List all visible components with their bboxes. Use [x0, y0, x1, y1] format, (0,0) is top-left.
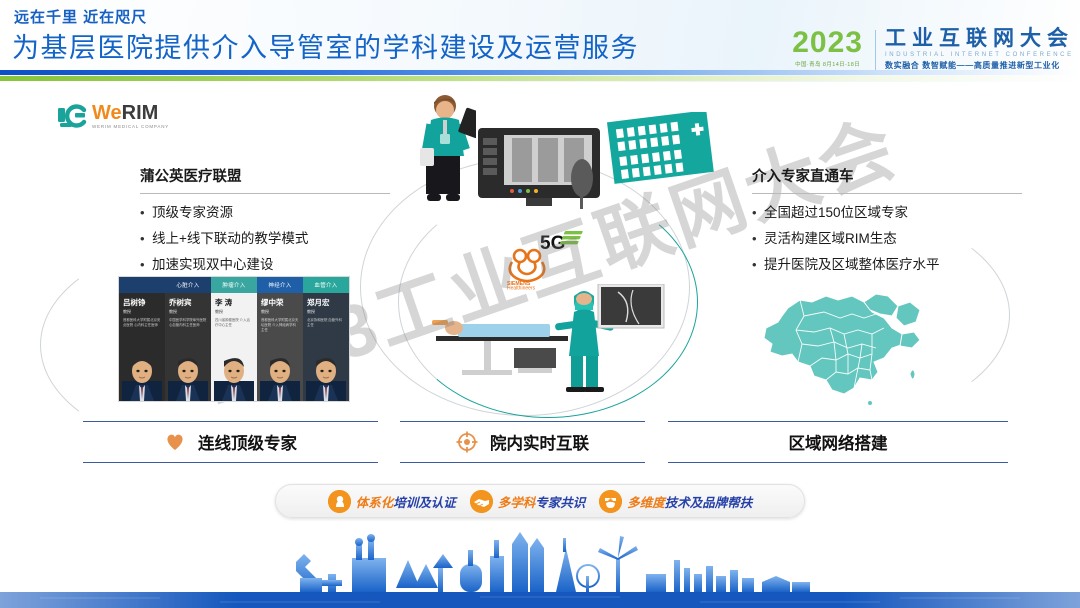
- expert-column-header: 肿瘤介入: [211, 277, 257, 293]
- banner-orange-1: 多学科: [498, 496, 536, 510]
- expert-role: 教授: [261, 309, 299, 314]
- conference-name-en: INDUSTRIAL INTERNET CONFERENCE: [885, 52, 1074, 58]
- expert-column-body: 缪中荣教授首都医科大学附属北京天坛医院 介入神经病学科主任: [257, 293, 303, 401]
- expert-column-header: [119, 277, 165, 293]
- expert-affiliation: 中国医学科学院阜外医院 心血管内科主任医师: [169, 318, 207, 328]
- expert-name: 缪中荣: [261, 298, 299, 307]
- bullet-dot-icon: •: [752, 256, 764, 273]
- capability-label-1: 院内实时互联: [490, 430, 589, 454]
- panel-bullets-left: • 顶级专家资源 • 线上+线下联动的教学模式 • 加速实现双中心建设: [140, 204, 390, 273]
- banner-blue-2: 技术及品牌帮扶: [665, 496, 753, 510]
- head-profile-icon: [328, 490, 351, 513]
- expert-column: 血管介入郑月宏教授北京协和医院 血管外科主任: [303, 277, 349, 401]
- bullet-dot-icon: •: [752, 230, 764, 247]
- expert-role: 教授: [307, 309, 345, 314]
- bullet-dot-icon: •: [752, 204, 764, 221]
- bullet-dot-icon: •: [140, 256, 152, 273]
- expert-column-body: 李 涛教授四川省肿瘤医院 介入治疗中心主任: [211, 293, 257, 401]
- bullet-text: 灵活构建区域RIM生态: [764, 230, 897, 247]
- banner-item-0[interactable]: 体系化培训及认证: [328, 490, 456, 513]
- capability-box-0[interactable]: 连线顶级专家: [83, 421, 378, 463]
- expert-role: 教授: [123, 309, 161, 314]
- expert-column-body: 乔树宾教授中国医学科学院阜外医院 心血管内科主任医师: [165, 293, 211, 401]
- banner-text-0: 体系化培训及认证: [356, 492, 456, 511]
- expert-column-header: 心脏介入: [165, 277, 211, 293]
- capability-label-0: 连线顶级专家: [198, 430, 297, 454]
- standing-doctor-illustration: [414, 92, 476, 214]
- expert-name: 郑月宏: [307, 298, 345, 307]
- capability-label-2: 区域网络搭建: [789, 430, 888, 454]
- werim-rim: RIM: [122, 102, 159, 124]
- expert-affiliation: 北京协和医院 血管外科主任: [307, 318, 345, 328]
- bullet-text: 全国超过150位区域专家: [764, 204, 908, 221]
- list-item: • 提升医院及区域整体医疗水平: [752, 256, 1022, 273]
- capability-box-2[interactable]: 区域网络搭建: [668, 421, 1008, 463]
- banner-blue-0: 培训及认证: [393, 496, 456, 510]
- conference-name-cn: 工业互联网大会: [885, 28, 1074, 50]
- conference-date: 中国·青岛 8月14日-18日: [792, 60, 863, 68]
- bullet-text: 顶级专家资源: [152, 204, 233, 221]
- service-banner: 体系化培训及认证 多学科专家共识 多维度技术及品牌: [275, 484, 805, 518]
- expert-column-body: 郑月宏教授北京协和医院 血管外科主任: [303, 293, 349, 401]
- expert-name: 李 涛: [215, 298, 253, 307]
- expert-portrait: [168, 345, 208, 401]
- expert-column-header: 血管介入: [303, 277, 349, 293]
- surgery-scene-illustration: [418, 284, 678, 410]
- target-icon: [456, 431, 478, 453]
- expert-column-header: 神经介入: [257, 277, 303, 293]
- expert-portrait: [260, 345, 300, 401]
- expert-role: 教授: [215, 309, 253, 314]
- banner-text-1: 多学科专家共识: [498, 492, 586, 511]
- conference-name-block: 工业互联网大会 INDUSTRIAL INTERNET CONFERENCE 数…: [885, 28, 1074, 71]
- werim-we: We: [92, 102, 122, 124]
- hainan-shape: [868, 401, 872, 405]
- expert-column: 吕树铮教授首都医科大学附属北京安贞医院 心内科主任医师: [119, 277, 165, 401]
- banner-item-2[interactable]: 多维度技术及品牌帮扶: [599, 490, 752, 513]
- nurse-icon: [599, 490, 622, 513]
- page-title: 为基层医院提供介入导管室的学科建设及运营服务: [12, 26, 639, 65]
- panel-rule-left: [140, 193, 390, 194]
- conference-divider: [875, 30, 876, 70]
- banner-item-1[interactable]: 多学科专家共识: [470, 490, 586, 513]
- expert-affiliation: 四川省肿瘤医院 介入治疗中心主任: [215, 318, 253, 328]
- slide-root: 远在千里 近在咫尺 为基层医院提供介入导管室的学科建设及运营服务 2023 中国…: [0, 0, 1080, 608]
- expert-column: 心脏介入乔树宾教授中国医学科学院阜外医院 心血管内科主任医师: [165, 277, 211, 401]
- industrial-skyline-illustration: [0, 516, 1080, 608]
- banner-text-2: 多维度技术及品牌帮扶: [627, 492, 752, 511]
- expert-affiliation: 首都医科大学附属北京天坛医院 介入神经病学科主任: [261, 318, 299, 333]
- expert-portrait: [214, 345, 254, 401]
- werim-mark-icon: [58, 103, 88, 129]
- bullet-dot-icon: •: [140, 230, 152, 247]
- expert-portrait: [122, 345, 162, 401]
- list-item: • 顶级专家资源: [140, 204, 390, 221]
- heart-icon: [164, 431, 186, 453]
- panel-title-right: 介入专家直通车: [752, 165, 1022, 186]
- expert-name: 吕树铮: [123, 298, 161, 307]
- banner-blue-1: 专家共识: [535, 496, 585, 510]
- expert-column: 肿瘤介入李 涛教授四川省肿瘤医院 介入治疗中心主任: [211, 277, 257, 401]
- bullet-text: 线上+线下联动的教学模式: [152, 230, 308, 247]
- bullet-text: 提升医院及区域整体医疗水平: [764, 256, 940, 273]
- panel-title-left: 蒲公英医疗联盟: [140, 165, 390, 186]
- taiwan-shape: [910, 370, 915, 379]
- bullet-dot-icon: •: [140, 204, 152, 221]
- expert-portrait: [306, 345, 346, 401]
- header-blue-rule: [0, 70, 1080, 75]
- header-green-rule: [0, 76, 1080, 81]
- conference-logo: 2023 中国·青岛 8月14日-18日 工业互联网大会 INDUSTRIAL …: [792, 28, 1074, 76]
- list-item: • 加速实现双中心建设: [140, 256, 390, 273]
- panel-bullets-right: • 全国超过150位区域专家 • 灵活构建区域RIM生态 • 提升医院及区域整体…: [752, 204, 1022, 273]
- werim-wordmark: WeRIM WERIM MEDICAL COMPANY: [92, 103, 169, 130]
- header-kicker: 远在千里 近在咫尺: [14, 6, 147, 27]
- banner-orange-0: 体系化: [356, 496, 394, 510]
- expert-column: 神经介入缪中荣教授首都医科大学附属北京天坛医院 介入神经病学科主任: [257, 277, 303, 401]
- werim-subtitle: WERIM MEDICAL COMPANY: [92, 125, 169, 130]
- siemens-healthineers-logo: SIEMENS Healthineers: [500, 242, 554, 290]
- list-item: • 灵活构建区域RIM生态: [752, 230, 1022, 247]
- hospital-building-illustration: [607, 112, 715, 192]
- tree-illustration: [569, 158, 595, 210]
- panel-dandelion-alliance: 蒲公英医疗联盟 • 顶级专家资源 • 线上+线下联动的教学模式 • 加速实现双中…: [140, 165, 390, 282]
- conference-year: 2023: [792, 28, 863, 58]
- bullet-text: 加速实现双中心建设: [152, 256, 274, 273]
- expert-role: 教授: [169, 309, 207, 314]
- china-map-illustration: [752, 282, 952, 410]
- expert-name: 乔树宾: [169, 298, 207, 307]
- panel-rule-right: [752, 193, 1022, 194]
- conference-year-block: 2023 中国·青岛 8月14日-18日: [792, 28, 873, 68]
- capability-box-1[interactable]: 院内实时互联: [400, 421, 645, 463]
- expert-photo-strip: 吕树铮教授首都医科大学附属北京安贞医院 心内科主任医师心脏介入乔树宾教授中国医学…: [118, 276, 350, 402]
- werim-logo: WeRIM WERIM MEDICAL COMPANY: [58, 103, 169, 130]
- expert-affiliation: 首都医科大学附属北京安贞医院 心内科主任医师: [123, 318, 161, 328]
- panel-expert-express: 介入专家直通车 • 全国超过150位区域专家 • 灵活构建区域RIM生态 • 提…: [752, 165, 1022, 282]
- expert-column-body: 吕树铮教授首都医科大学附属北京安贞医院 心内科主任医师: [119, 293, 165, 401]
- list-item: • 全国超过150位区域专家: [752, 204, 1022, 221]
- banner-orange-2: 多维度: [627, 496, 665, 510]
- list-item: • 线上+线下联动的教学模式: [140, 230, 390, 247]
- handshake-icon: [470, 490, 493, 513]
